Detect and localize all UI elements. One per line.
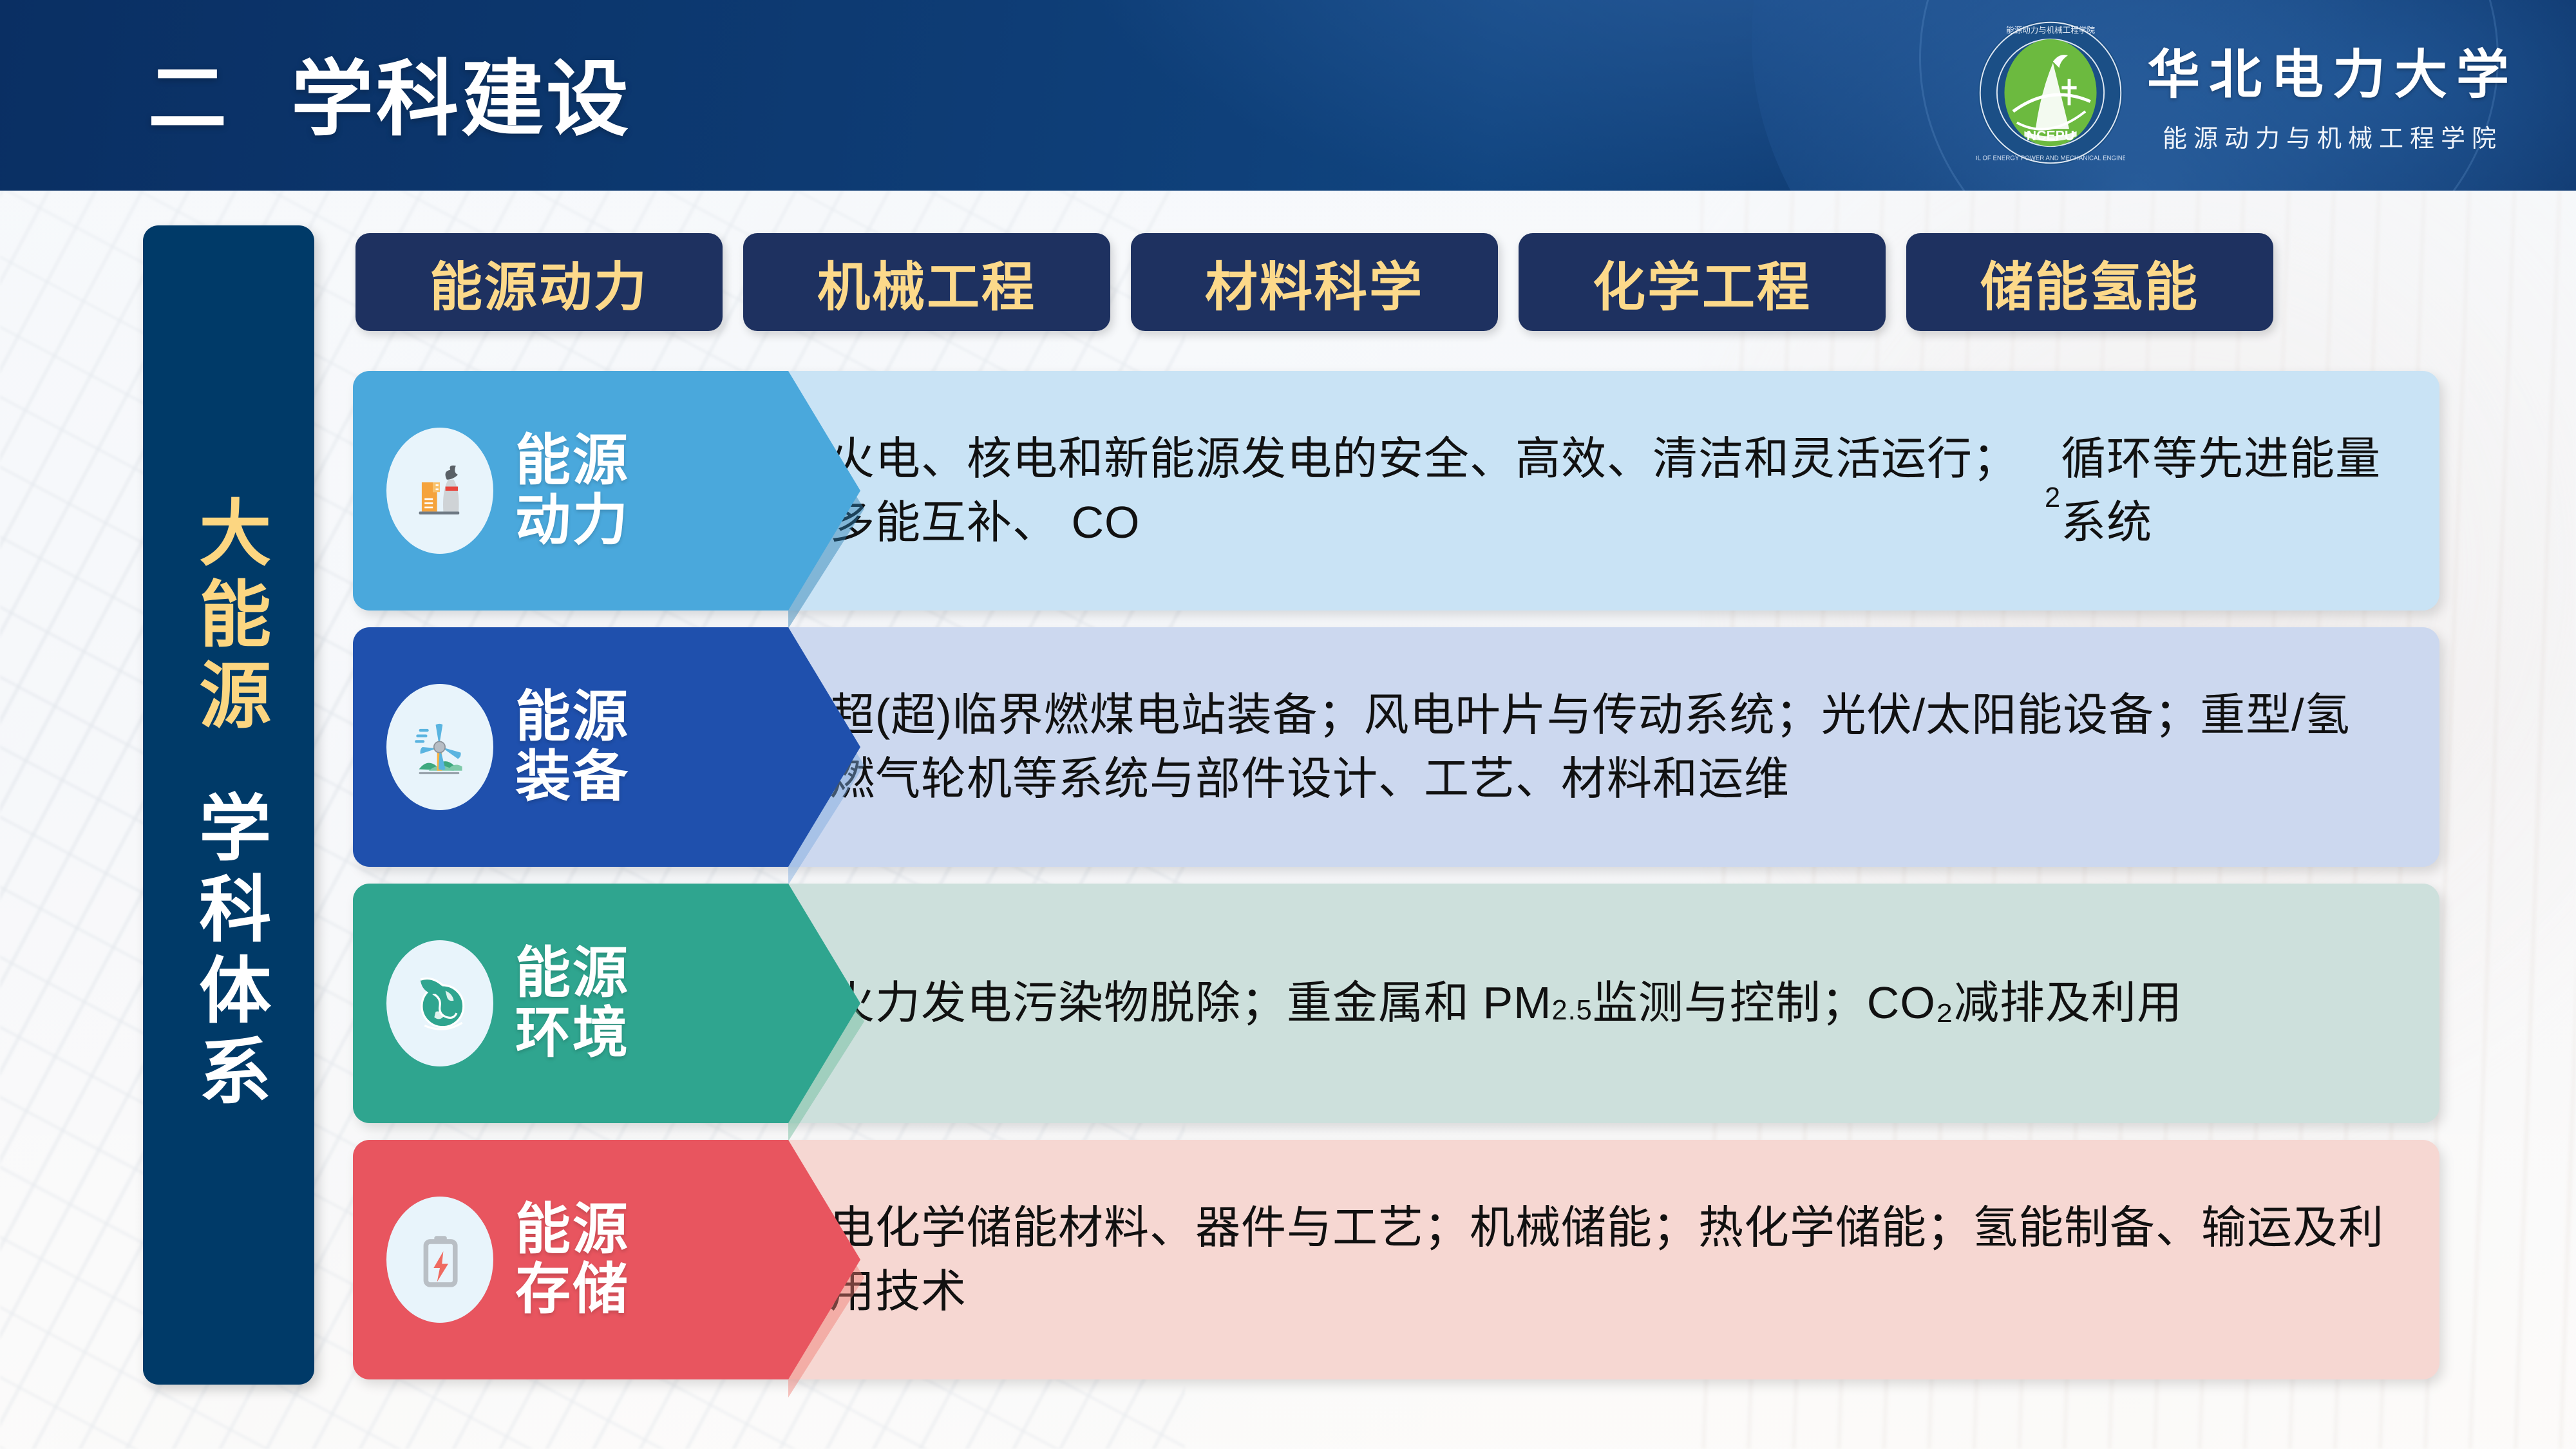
row-description-subscript: 2 (2045, 478, 2061, 518)
discipline-row-energy-environment: 火力发电污染物脱除；重金属和 PM2.5监测与控制；CO₂减排及利用 (353, 884, 2439, 1123)
row-description: 火力发电污染物脱除；重金属和 PM2.5监测与控制；CO₂减排及利用 (829, 884, 2394, 1123)
slide-canvas: 二 学科建设 NCEPU 能源动力与机械工程学院 SCHOOL (0, 0, 2576, 1449)
row-title-line2: 装备 (515, 747, 630, 807)
row-description-subscript: 2.5 (1551, 991, 1592, 1031)
row-title-line1: 能源 (515, 431, 630, 491)
row-description-post: 循环等先进能量系统 (2061, 427, 2394, 555)
row-title: 能源 环境 (515, 943, 630, 1063)
row-title-line1: 能源 (515, 943, 630, 1003)
row-description-pre: 电化学储能材料、器件与工艺；机械储能；热化学储能；氢能制备、输运及利用技术 (829, 1196, 2394, 1324)
row-description-post: 监测与控制；CO₂减排及利用 (1593, 971, 2183, 1035)
row-label[interactable]: 能源 动力 (353, 371, 788, 611)
svg-text:SCHOOL OF ENERGY POWER AND MEC: SCHOOL OF ENERGY POWER AND MECHANICAL EN… (1976, 155, 2125, 162)
row-description: 超(超)临界燃煤电站装备；风电叶片与传动系统；光伏/太阳能设备；重型/氢燃气轮机… (829, 627, 2394, 867)
discipline-row-list: 火电、核电和新能源发电的安全、高效、清洁和灵活运行；多能互补、 CO2循环等先进… (353, 371, 2439, 1379)
section-title: 学科建设 (291, 32, 631, 151)
discipline-tag-chemical[interactable]: 化学工程 (1519, 233, 1886, 331)
discipline-tag-materials[interactable]: 材料科学 (1131, 233, 1498, 331)
banner-line-1: 大能源 (191, 495, 266, 739)
row-title-line1: 能源 (515, 1200, 630, 1260)
row-title: 能源 装备 (515, 687, 630, 807)
row-description-pre: 火电、核电和新能源发电的安全、高效、清洁和灵活运行；多能互补、 CO (829, 427, 2045, 555)
discipline-tag-mechanical[interactable]: 机械工程 (743, 233, 1110, 331)
discipline-tag-storage-hydrogen[interactable]: 储能氢能 (1906, 233, 2273, 331)
slide-header-bar: 二 学科建设 NCEPU 能源动力与机械工程学院 SCHOOL (0, 0, 2576, 191)
banner-line-2: 学科体系 (191, 790, 266, 1115)
school-name: 能源动力与机械工程学院 (2163, 118, 2503, 154)
row-label[interactable]: 能源 环境 (353, 884, 788, 1123)
row-description-pre: 火力发电污染物脱除；重金属和 PM (829, 971, 1551, 1035)
ncepu-emblem-icon: NCEPU 能源动力与机械工程学院 SCHOOL OF ENERGY POWER… (1976, 18, 2125, 167)
row-label[interactable]: 能源 存储 (353, 1140, 788, 1379)
svg-text:能源动力与机械工程学院: 能源动力与机械工程学院 (2006, 25, 2095, 35)
row-title-line2: 动力 (515, 491, 630, 551)
row-title: 能源 动力 (515, 431, 630, 551)
row-description: 火电、核电和新能源发电的安全、高效、清洁和灵活运行；多能互补、 CO2循环等先进… (829, 371, 2394, 611)
left-vertical-banner: 大能源 学科体系 (143, 225, 314, 1385)
row-title-line2: 环境 (515, 1003, 630, 1063)
battery-bolt-icon (386, 1197, 493, 1323)
discipline-tag-list: 能源动力 机械工程 材料科学 化学工程 储能氢能 (355, 233, 2273, 331)
university-name: 华北电力大学 (2147, 32, 2518, 108)
svg-text:NCEPU: NCEPU (2027, 128, 2074, 143)
row-description-pre: 超(超)临界燃煤电站装备；风电叶片与传动系统；光伏/太阳能设备；重型/氢燃气轮机… (829, 683, 2394, 811)
university-logo-block: NCEPU 能源动力与机械工程学院 SCHOOL OF ENERGY POWER… (1976, 18, 2518, 167)
row-title: 能源 存储 (515, 1200, 630, 1320)
section-number: 二 (148, 35, 229, 149)
row-label[interactable]: 能源 装备 (353, 627, 788, 867)
discipline-row-energy-equipment: 超(超)临界燃煤电站装备；风电叶片与传动系统；光伏/太阳能设备；重型/氢燃气轮机… (353, 627, 2439, 867)
logo-text-block: 华北电力大学 能源动力与机械工程学院 (2147, 32, 2518, 154)
discipline-row-energy-storage: 电化学储能材料、器件与工艺；机械储能；热化学储能；氢能制备、输运及利用技术 能源… (353, 1140, 2439, 1379)
discipline-row-energy-power: 火电、核电和新能源发电的安全、高效、清洁和灵活运行；多能互补、 CO2循环等先进… (353, 371, 2439, 611)
page-title: 二 学科建设 (148, 32, 631, 151)
row-description: 电化学储能材料、器件与工艺；机械储能；热化学储能；氢能制备、输运及利用技术 (829, 1140, 2394, 1379)
wind-turbine-icon (386, 684, 493, 810)
power-plant-icon (386, 428, 493, 554)
discipline-tag-energy-power[interactable]: 能源动力 (355, 233, 723, 331)
row-title-line1: 能源 (515, 687, 630, 747)
row-title-line2: 存储 (515, 1260, 630, 1320)
globe-leaf-icon (386, 940, 493, 1066)
